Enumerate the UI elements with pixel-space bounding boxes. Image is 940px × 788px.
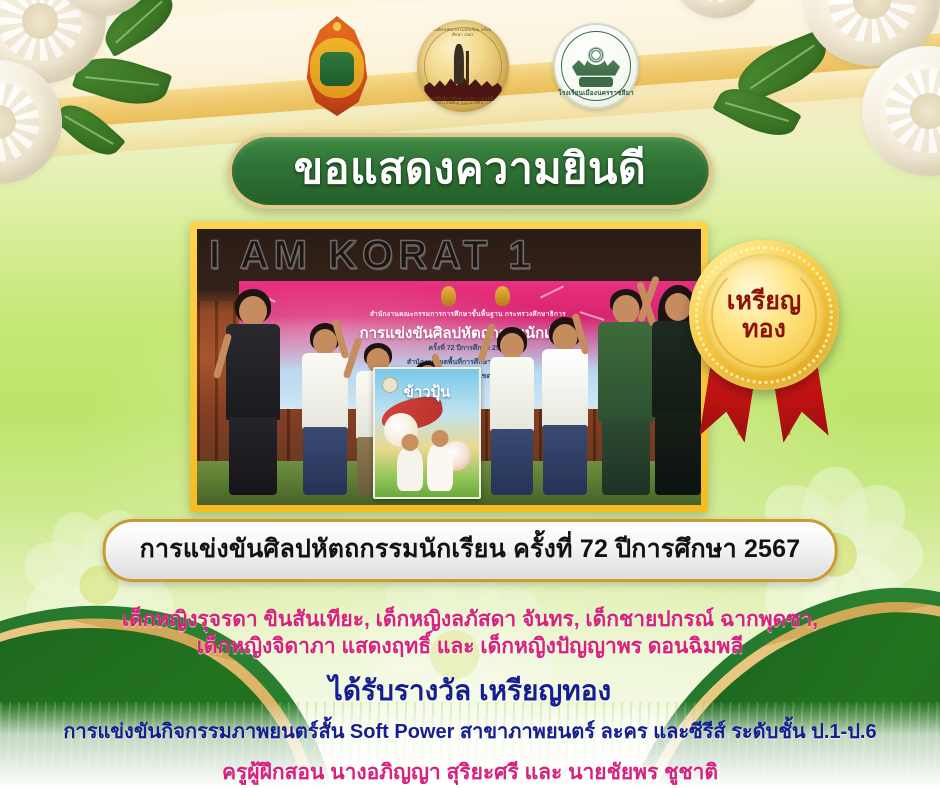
emblem-bottom-text: ระดับเขตพื้นที่การศึกษา สำนักงานเขตพื้นท…	[417, 97, 509, 106]
movie-poster-prop: ข้าวปุ้น	[373, 367, 481, 499]
poster-child-right	[427, 443, 453, 491]
medal-label-line-1: เหรียญ	[727, 288, 801, 314]
gold-medal-badge: เหรียญ ทอง	[680, 240, 848, 418]
award-photo: I AM KORAT 1 สำนักงานคณะกรรมการการศึกษาข…	[197, 229, 701, 505]
moe-core-shape	[320, 52, 355, 86]
person-teacher-male	[595, 289, 657, 495]
person-student-5	[537, 317, 593, 495]
competition-gold-emblem: การแข่งขันศิลปหัตถกรรมนักเรียน ครั้งที่ …	[417, 20, 509, 112]
school-name-text: โรงเรียนเมืองนครราชสีมา	[555, 88, 637, 98]
school-emblem: โรงเรียนเมืองนครราชสีมา	[553, 23, 639, 109]
coach-teachers-text: ครูผู้ฝึกสอน นางอภิญญา สุริยะศรี และ นาย…	[24, 756, 916, 788]
competition-title-text: การแข่งขันศิลปหัตถกรรมนักเรียน ครั้งที่ …	[140, 529, 801, 569]
student-names-line-1: เด็กหญิงรุจรดา ขินสันเทียะ, เด็กหญิงลภัส…	[24, 606, 916, 633]
event-category-text: การแข่งขันกิจกรรมภาพยนตร์สั้น Soft Power…	[24, 715, 916, 747]
poster-child-left	[397, 447, 423, 491]
medal-label-line-2: ทอง	[742, 316, 786, 342]
person-teacher-left	[221, 289, 285, 495]
thao-suranari-statue-icon	[454, 44, 464, 84]
logo-row: การแข่งขันศิลปหัตถกรรมนักเรียน ครั้งที่ …	[0, 14, 940, 118]
award-photo-frame: I AM KORAT 1 สำนักงานคณะกรรมการการศึกษาข…	[190, 222, 708, 512]
person-student-4	[485, 327, 539, 495]
medal-disc: เหรียญ ทอง	[689, 240, 839, 390]
student-names-line-2: เด็กหญิงจิดาภา แสดงฤทธิ์ และ เด็กหญิงปัญ…	[24, 633, 916, 660]
medal-label: เหรียญ ทอง	[689, 240, 839, 390]
school-base-shape	[579, 77, 613, 87]
congratulations-text: ขอแสดงความยินดี	[294, 146, 647, 192]
emblem-top-text: การแข่งขันศิลปหัตถกรรมนักเรียน ครั้งที่ …	[417, 28, 509, 37]
award-result-text: ได้รับรางวัล เหรียญทอง	[24, 669, 916, 713]
congratulations-banner: ขอแสดงความยินดี	[228, 133, 713, 209]
congratulation-poster: การแข่งขันศิลปหัตถกรรมนักเรียน ครั้งที่ …	[0, 0, 940, 788]
stage-sign-text: I AM KORAT 1	[209, 233, 693, 281]
poster-title-text: ข้าวปุ้น	[375, 380, 479, 404]
ministry-of-education-emblem	[301, 16, 373, 116]
congratulations-pill: ขอแสดงความยินดี	[228, 133, 713, 209]
backdrop-seal-right	[495, 286, 510, 306]
backdrop-seal-left	[441, 286, 456, 306]
dharma-wheel-icon	[586, 45, 606, 65]
competition-title-pill: การแข่งขันศิลปหัตถกรรมนักเรียน ครั้งที่ …	[103, 519, 838, 582]
person-student-1	[297, 323, 353, 495]
award-details: เด็กหญิงรุจรดา ขินสันเทียะ, เด็กหญิงลภัส…	[0, 606, 940, 788]
